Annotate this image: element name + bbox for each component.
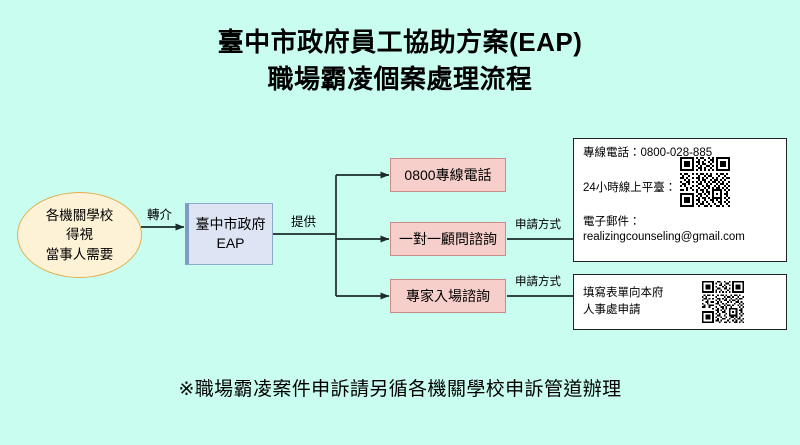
info-application-line1: 填寫表單向本府 xyxy=(583,285,664,302)
info-box-application: 填寫表單向本府 人事處申請 xyxy=(573,274,787,330)
info-application-row: 填寫表單向本府 人事處申請 xyxy=(583,282,777,322)
eap-label-line2: EAP xyxy=(216,234,244,253)
node-service-one-on-one[interactable]: 一對一顧問諮詢 xyxy=(390,222,506,256)
info-application-line2: 人事處申請 xyxy=(583,302,664,319)
footer-note: ※職場霸凌案件申訴請另循各機關學校申訴管道辦理 xyxy=(0,378,800,403)
info-email-value-row: realizingcounseling@gmail.com xyxy=(583,230,777,246)
info-platform-label: 24小時線上平臺： xyxy=(583,181,676,197)
diagram-canvas: 臺中市政府員工協助方案(EAP) 職場霸凌個案處理流程 各機關學校 得視 當事人… xyxy=(0,0,800,445)
source-label-line1: 各機關學校 xyxy=(46,206,114,225)
source-label-line2: 得視 xyxy=(66,225,93,244)
edge-label-apply-1: 申請方式 xyxy=(515,216,561,232)
info-email-label-row: 電子郵件： xyxy=(583,215,777,231)
service-label: 0800專線電話 xyxy=(404,167,491,184)
source-label-line3: 當事人需要 xyxy=(46,245,114,264)
qr-code-online-platform[interactable] xyxy=(680,157,730,207)
service-label: 一對一顧問諮詢 xyxy=(399,231,497,248)
info-box-contact: 專線電話：0800-028-885 24小時線上平臺： xyxy=(573,138,787,262)
node-source-agencies[interactable]: 各機關學校 得視 當事人需要 xyxy=(17,192,142,278)
info-email-value[interactable]: realizingcounseling@gmail.com xyxy=(583,230,745,246)
info-application-text: 填寫表單向本府 人事處申請 xyxy=(583,285,664,320)
edge-label-provide: 提供 xyxy=(291,211,316,230)
edge-label-referral: 轉介 xyxy=(147,204,172,223)
page-title: 臺中市政府員工協助方案(EAP) 職場霸凌個案處理流程 xyxy=(0,24,800,98)
page-title-line2: 職場霸凌個案處理流程 xyxy=(0,61,800,98)
info-email-label: 電子郵件： xyxy=(583,215,641,231)
service-label: 專家入場諮詢 xyxy=(406,288,490,305)
edge-label-apply-2: 申請方式 xyxy=(515,273,561,289)
qr-code-application-form[interactable] xyxy=(702,281,744,323)
node-service-hotline[interactable]: 0800專線電話 xyxy=(390,158,506,192)
node-service-onsite-expert[interactable]: 專家入場諮詢 xyxy=(390,279,506,313)
node-eap-hub[interactable]: 臺中市政府 EAP xyxy=(185,203,273,265)
page-title-line1: 臺中市政府員工協助方案(EAP) xyxy=(218,27,583,57)
eap-label-line1: 臺中市政府 xyxy=(196,215,266,234)
info-platform-row: 24小時線上平臺： xyxy=(583,171,777,207)
